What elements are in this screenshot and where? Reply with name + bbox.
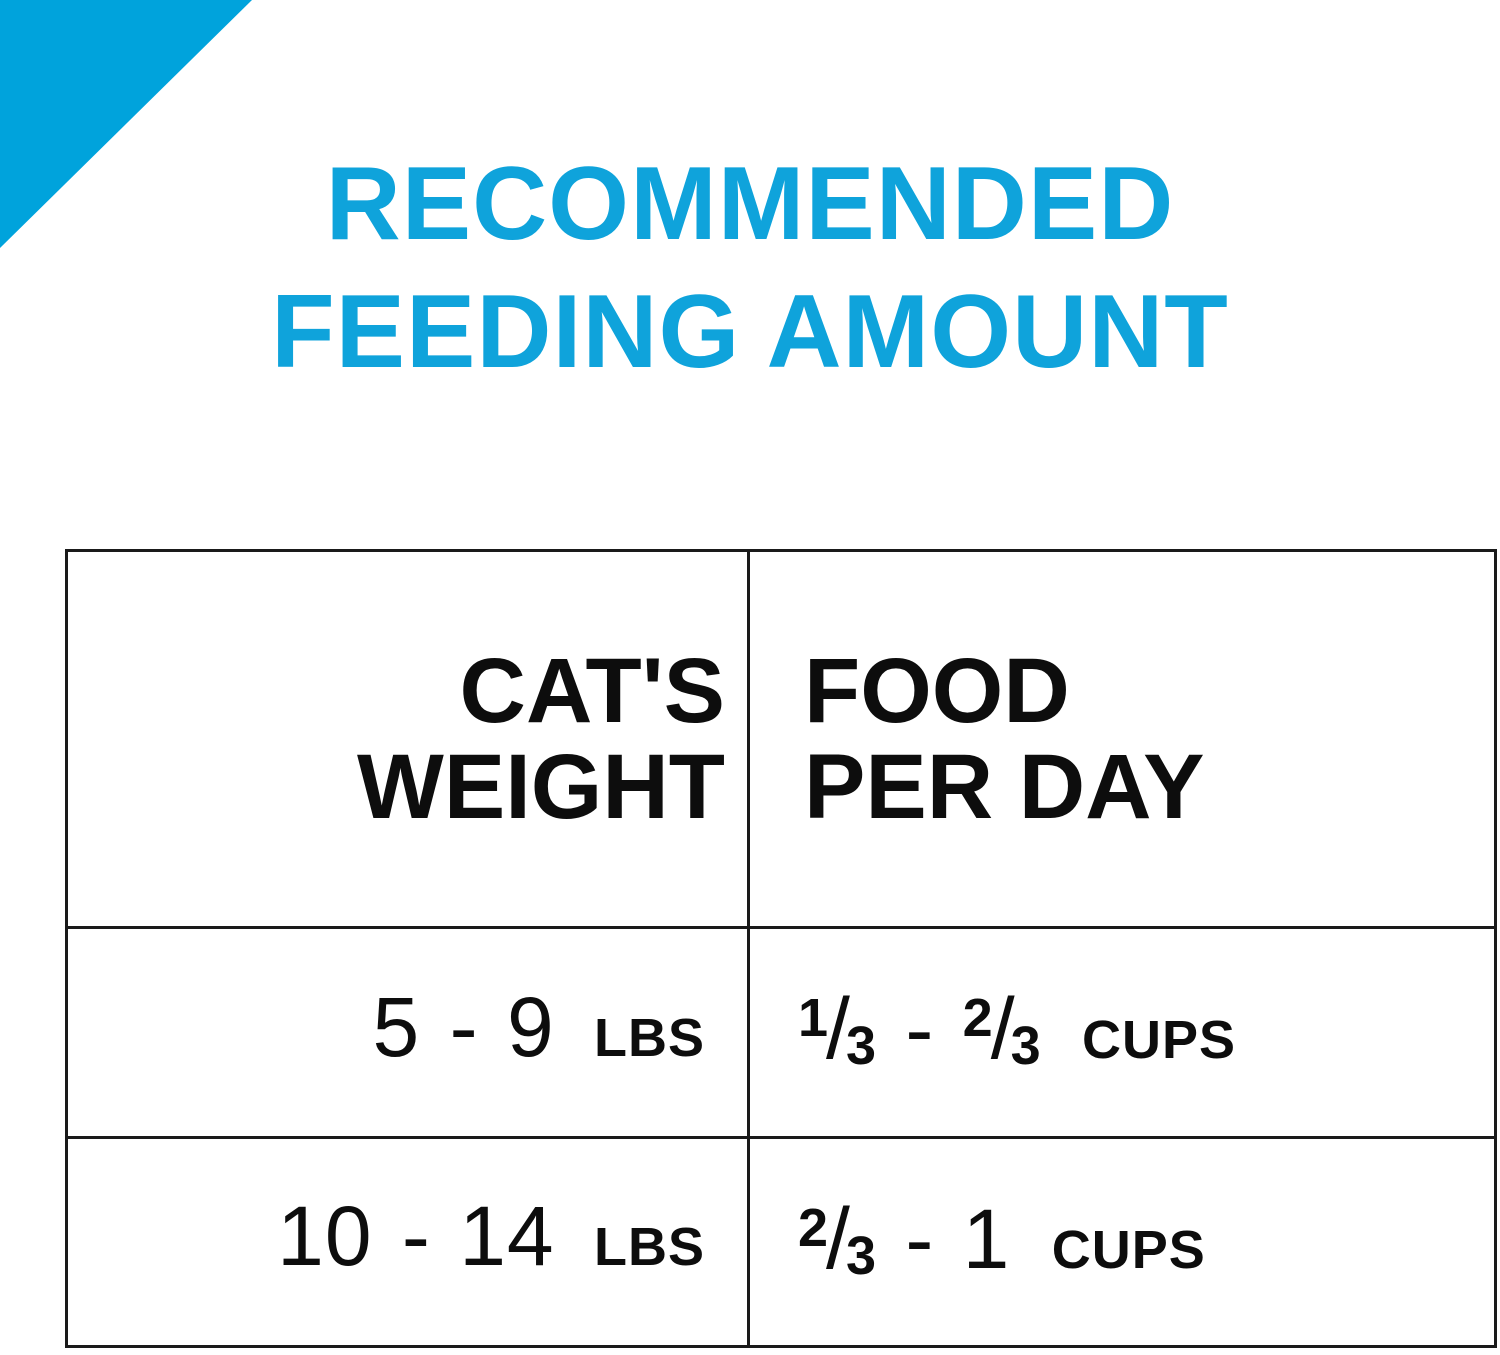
cell-food-range: 2/3 - 1 CUPS (749, 1137, 1496, 1347)
page-title-line-1: RECOMMENDED (0, 140, 1500, 268)
weight-range-dash: - (396, 1189, 436, 1283)
food-unit: CUPS (1082, 1010, 1236, 1070)
column-header-food-per-day: FOOD PER DAY (749, 551, 1496, 928)
weight-max: 14 (459, 1189, 554, 1283)
column-header-cats-weight-line-1: CAT'S (68, 643, 725, 739)
weight-min: 10 (277, 1189, 372, 1283)
table-row: 5 - 9 LBS 1/3 - 2/3 CUPS (67, 928, 1496, 1138)
food-min-denominator: 3 (846, 1226, 876, 1286)
food-min-fraction: 1/3 (798, 973, 876, 1091)
weight-min: 5 (373, 980, 421, 1074)
cell-weight-range: 5 - 9 LBS (67, 928, 749, 1138)
feeding-guide-page: RECOMMENDED FEEDING AMOUNT CAT'S WEIGHT … (0, 0, 1500, 1355)
food-max-denominator: 3 (1011, 1016, 1041, 1076)
food-max-fraction: 2/3 (963, 973, 1041, 1091)
food-range-dash: - (899, 1192, 939, 1286)
weight-unit: LBS (594, 1217, 705, 1277)
column-header-food-per-day-line-2: PER DAY (804, 739, 1494, 835)
cell-weight-range: 10 - 14 LBS (67, 1137, 749, 1347)
cell-food-range: 1/3 - 2/3 CUPS (749, 928, 1496, 1138)
column-header-cats-weight: CAT'S WEIGHT (67, 551, 749, 928)
food-max-numerator: 2 (963, 988, 993, 1048)
weight-range-dash: - (444, 980, 484, 1074)
weight-max: 9 (507, 980, 555, 1074)
column-header-food-per-day-line-1: FOOD (804, 643, 1494, 739)
weight-unit: LBS (594, 1008, 705, 1068)
feeding-amount-table: CAT'S WEIGHT FOOD PER DAY 5 - 9 LBS (65, 549, 1497, 1348)
food-max-whole: 1 (963, 1192, 1011, 1286)
food-min-fraction: 2/3 (798, 1183, 876, 1301)
food-min-denominator: 3 (846, 1016, 876, 1076)
food-min-numerator: 2 (798, 1198, 828, 1258)
table-row: 10 - 14 LBS 2/3 - 1 CUPS (67, 1137, 1496, 1347)
page-title: RECOMMENDED FEEDING AMOUNT (0, 140, 1500, 396)
table-header-row: CAT'S WEIGHT FOOD PER DAY (67, 551, 1496, 928)
page-title-line-2: FEEDING AMOUNT (0, 268, 1500, 396)
food-unit: CUPS (1052, 1220, 1206, 1280)
column-header-cats-weight-line-2: WEIGHT (68, 739, 725, 835)
food-min-numerator: 1 (798, 988, 828, 1048)
food-range-dash: - (899, 982, 939, 1076)
